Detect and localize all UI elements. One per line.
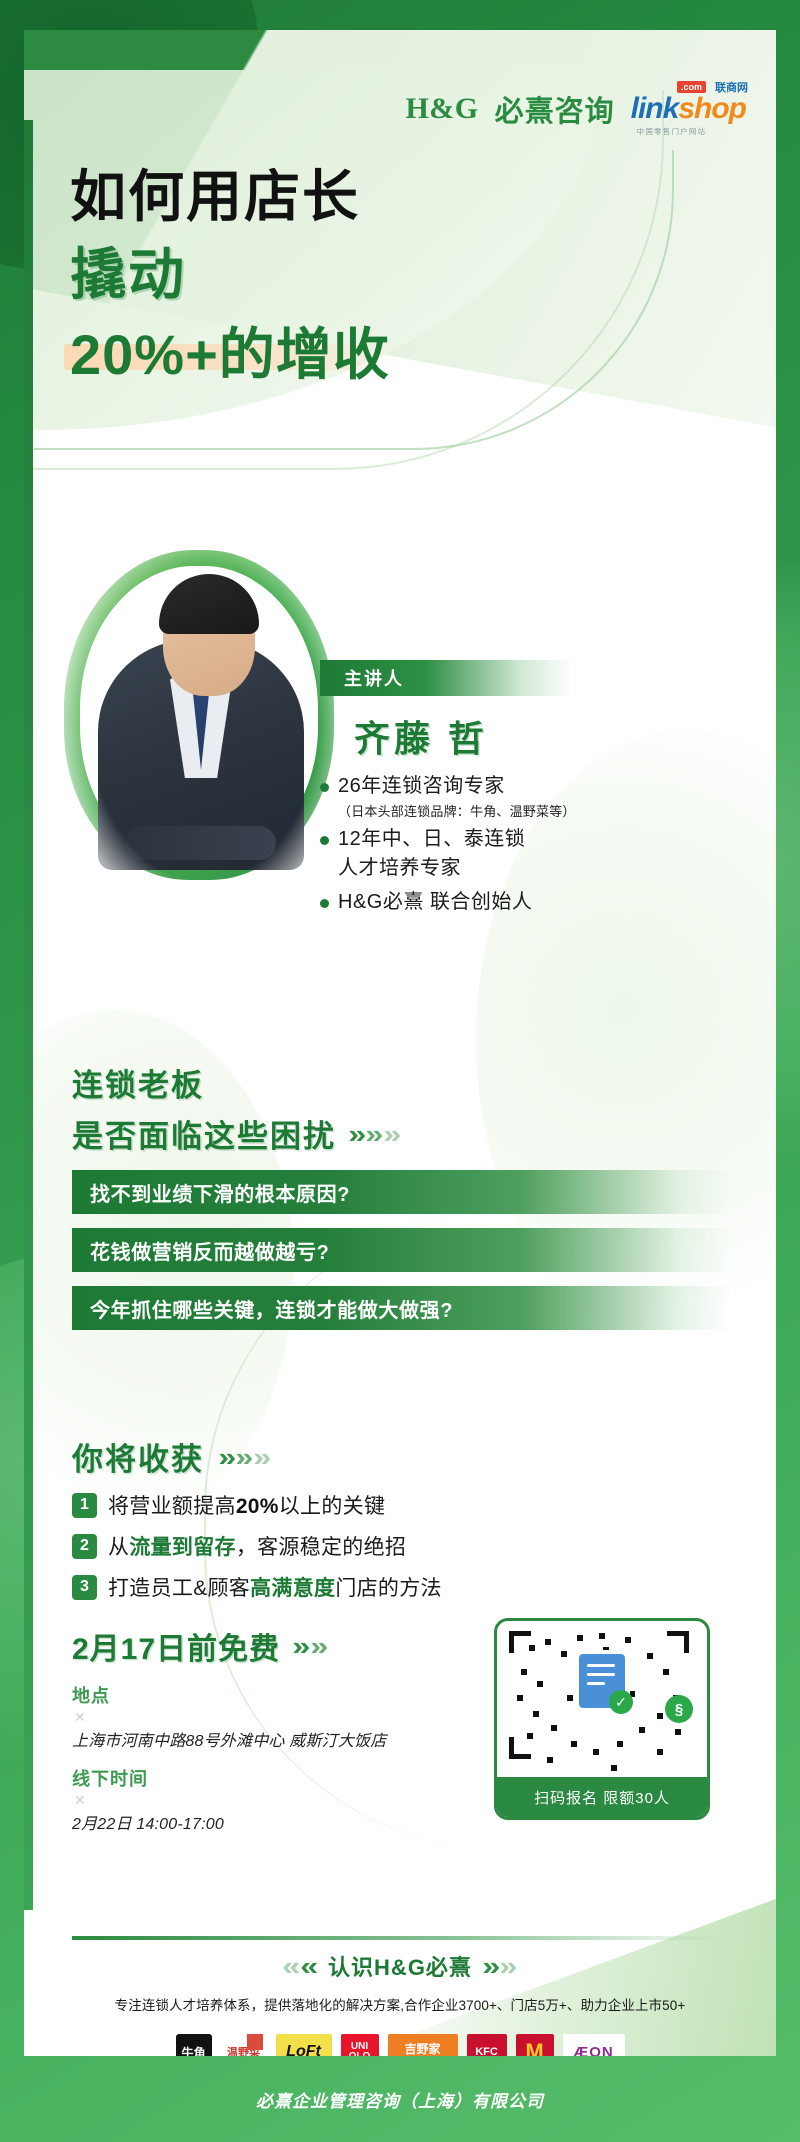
chevron-left-icon: » bbox=[300, 1953, 318, 1979]
client-logo-strip: 牛角 温野菜 LoFt UNIQLO 吉野家YOSHINOYA KFC M ÆO… bbox=[24, 2034, 776, 2056]
pain-bar: 找不到业绩下滑的根本原因? bbox=[72, 1170, 732, 1214]
client-logo-uniqlo: UNIQLO bbox=[341, 2034, 379, 2056]
speaker-badge-label: 主讲人 bbox=[344, 665, 404, 691]
qr-caption-text: 扫码报名 限额30人 bbox=[534, 1787, 670, 1808]
poster-title: 如何用店长 撬动 20%+的增收 bbox=[70, 166, 710, 391]
bullet-dot-icon bbox=[320, 836, 329, 845]
gain-post: 门店的方法 bbox=[335, 1577, 442, 1600]
qr-code-image[interactable]: ✓ § bbox=[497, 1621, 707, 1777]
credential-item: H&G必熹 联合创始人 bbox=[320, 888, 750, 916]
gain-highlight: 20% bbox=[236, 1495, 279, 1518]
pain-bar-text: 找不到业绩下滑的根本原因? bbox=[90, 1178, 350, 1207]
pain-bar-text: 花钱做营销反而越做越亏? bbox=[90, 1236, 329, 1265]
client-logo-kfc: KFC bbox=[467, 2034, 507, 2056]
speaker-credentials: 26年连锁咨询专家 （日本头部连锁品牌：牛角、温野菜等） 12年中、日、泰连锁 … bbox=[320, 772, 750, 917]
time-separator-icon: ✕ bbox=[74, 1792, 472, 1809]
linkshop-com-badge: .com bbox=[677, 81, 706, 93]
chevron-right-icon: » bbox=[366, 1121, 384, 1147]
event-headline: 2月17日前免费 bbox=[72, 1624, 280, 1668]
venue-label: 地点 bbox=[72, 1682, 472, 1708]
chevron-left-icon: » bbox=[282, 1953, 300, 1979]
venue-separator-icon: ✕ bbox=[74, 1709, 472, 1726]
gain-highlight: 高满意度 bbox=[250, 1577, 335, 1600]
left-accent-bar bbox=[24, 120, 33, 1910]
header-logos: H&G 必熹咨询 link shop .com 联商网 中国零售门户网站 bbox=[24, 82, 776, 136]
credential-text: H&G必熹 联合创始人 bbox=[338, 888, 532, 916]
gains-heading-row: 你将收获 » » » bbox=[72, 1434, 732, 1479]
linkshop-subtitle: 中国零售门户网站 bbox=[637, 126, 707, 137]
gain-pre: 将营业额提高 bbox=[108, 1495, 236, 1518]
chevron-right-icon: » bbox=[292, 1633, 310, 1659]
speaker-badge: 主讲人 bbox=[320, 660, 572, 696]
gains-section: 你将收获 » » » 1 将营业额提高20%以上的关键 2 从流量到留存，客源稳… bbox=[72, 1434, 732, 1602]
gain-item: 3 打造员工&顾客高满意度门店的方法 bbox=[72, 1572, 732, 1602]
linkshop-shop-text: shop bbox=[678, 92, 746, 126]
pain-heading-line-2: 是否面临这些困扰 bbox=[72, 1111, 336, 1156]
pain-bar: 今年抓住哪些关键，连锁才能做大做强? bbox=[72, 1286, 732, 1330]
section-divider bbox=[72, 1936, 728, 1940]
chevron-group: » » » bbox=[220, 1444, 269, 1470]
chevron-right-icon: » bbox=[310, 1633, 328, 1659]
about-section: » » 认识H&G必熹 » » 专注连锁人才培养体系，提供落地化的解决方案,合作… bbox=[24, 1950, 776, 2056]
chevron-right-icon: » bbox=[500, 1953, 518, 1979]
chevron-right-icon: » bbox=[253, 1444, 271, 1470]
gain-text: 将营业额提高20%以上的关键 bbox=[108, 1490, 385, 1520]
title-line-2: 撬动 bbox=[70, 241, 710, 308]
qr-center-logo: ✓ bbox=[574, 1650, 630, 1712]
chevron-right-icon: » bbox=[218, 1444, 236, 1470]
pain-points-section: 连锁老板 是否面临这些困扰 » » » 找不到业绩下滑的根本原因? 花钱做营销反… bbox=[72, 1060, 732, 1330]
gains-heading: 你将收获 bbox=[72, 1434, 204, 1479]
photo-vignette bbox=[54, 530, 354, 930]
time-label: 线下时间 bbox=[72, 1765, 472, 1791]
linkshop-cn-text: 联商网 bbox=[715, 79, 748, 95]
gain-post: 以上的关键 bbox=[279, 1495, 386, 1518]
logo-hg-text: H&G bbox=[405, 92, 478, 126]
chevron-right-icon: » bbox=[383, 1121, 401, 1147]
poster-card: H&G 必熹咨询 link shop .com 联商网 中国零售门户网站 如何用… bbox=[24, 30, 776, 2056]
chevron-right-icon: » bbox=[348, 1121, 366, 1147]
footer-company-name: 必熹企业管理咨询（上海）有限公司 bbox=[256, 2087, 544, 2112]
speaker-name: 齐藤 哲 bbox=[354, 710, 750, 762]
bullet-dot-icon bbox=[320, 899, 329, 908]
credential-text: 26年连锁咨询专家 bbox=[338, 772, 505, 800]
gain-highlight: 流量到留存 bbox=[129, 1536, 236, 1559]
gain-item: 1 将营业额提高20%以上的关键 bbox=[72, 1490, 732, 1520]
about-description: 专注连锁人才培养体系，提供落地化的解决方案,合作企业3700+、门店5万+、助力… bbox=[24, 1994, 776, 2014]
pain-bar-text: 今年抓住哪些关键，连锁才能做大做强? bbox=[90, 1294, 453, 1323]
client-logo-mcdonalds: M bbox=[516, 2034, 554, 2056]
gain-text: 打造员工&顾客高满意度门店的方法 bbox=[108, 1572, 442, 1602]
client-logo-onyasai: 温野菜 bbox=[221, 2034, 267, 2056]
gain-post: ，客源稳定的绝招 bbox=[236, 1536, 406, 1559]
about-heading: 认识H&G必熹 bbox=[328, 1950, 472, 1982]
client-logo-yoshinoya: 吉野家YOSHINOYA bbox=[388, 2034, 458, 2056]
event-info-section: 2月17日前免费 » » 地点 ✕ 上海市河南中路88号外滩中心 威斯汀大饭店 … bbox=[72, 1624, 472, 1834]
gain-number-badge: 2 bbox=[72, 1534, 97, 1559]
qr-code-card[interactable]: ✓ § 扫码报名 限额30人 bbox=[494, 1618, 710, 1820]
chevron-right-icon: » bbox=[482, 1953, 500, 1979]
chevron-group: » » » bbox=[350, 1121, 399, 1147]
linkshop-link-text: link bbox=[631, 92, 679, 126]
about-heading-row: » » 认识H&G必熹 » » bbox=[24, 1950, 776, 1982]
logo-linkshop: link shop .com 联商网 中国零售门户网站 bbox=[631, 92, 746, 126]
title-line-3-wrap: 20%+的增收 bbox=[70, 310, 390, 391]
credential-item: 26年连锁咨询专家 bbox=[320, 772, 750, 800]
chevron-group-right: » » bbox=[484, 1953, 516, 1979]
gain-pre: 从 bbox=[108, 1536, 129, 1559]
yoshinoya-line-1: 吉野家 bbox=[404, 2040, 440, 2056]
logo-bixi-text: 必熹咨询 bbox=[495, 88, 615, 130]
client-logo-niku: 牛角 bbox=[176, 2034, 212, 2056]
check-icon: ✓ bbox=[609, 1690, 633, 1714]
gain-pre: 打造员工&顾客 bbox=[108, 1577, 250, 1600]
gain-item: 2 从流量到留存，客源稳定的绝招 bbox=[72, 1531, 732, 1561]
document-icon: ✓ bbox=[579, 1654, 625, 1708]
bullet-dot-icon bbox=[320, 783, 329, 792]
client-logo-loft: LoFt bbox=[276, 2034, 332, 2056]
venue-value: 上海市河南中路88号外滩中心 威斯汀大饭店 bbox=[72, 1727, 472, 1751]
footer-strip: 必熹企业管理咨询（上海）有限公司 bbox=[0, 2056, 800, 2142]
title-line-3: 20%+的增收 bbox=[70, 310, 390, 391]
event-headline-row: 2月17日前免费 » » bbox=[72, 1624, 472, 1668]
pain-heading-row: 是否面临这些困扰 » » » bbox=[72, 1111, 732, 1156]
gain-text: 从流量到留存，客源稳定的绝招 bbox=[108, 1531, 406, 1561]
pain-bar: 花钱做营销反而越做越亏? bbox=[72, 1228, 732, 1272]
gain-number-badge: 3 bbox=[72, 1575, 97, 1600]
pain-heading-line-1: 连锁老板 bbox=[72, 1060, 732, 1105]
time-value: 2月22日 14:00-17:00 bbox=[72, 1810, 472, 1834]
poster-root: H&G 必熹咨询 link shop .com 联商网 中国零售门户网站 如何用… bbox=[0, 0, 800, 2142]
gain-number-badge: 1 bbox=[72, 1493, 97, 1518]
client-logo-aeon: ÆON bbox=[563, 2034, 625, 2056]
title-line-1: 如何用店长 bbox=[70, 166, 710, 229]
wechat-icon: § bbox=[665, 1695, 693, 1723]
qr-caption-bar: 扫码报名 限额30人 bbox=[497, 1777, 707, 1817]
credential-item: 12年中、日、泰连锁 人才培养专家 bbox=[320, 825, 750, 882]
credential-subtext: （日本头部连锁品牌：牛角、温野菜等） bbox=[338, 801, 750, 820]
speaker-photo bbox=[64, 530, 354, 930]
chevron-group-left: » » bbox=[284, 1953, 316, 1979]
credential-text: 12年中、日、泰连锁 人才培养专家 bbox=[338, 825, 525, 882]
speaker-block: 主讲人 齐藤 哲 26年连锁咨询专家 （日本头部连锁品牌：牛角、温野菜等） 12… bbox=[320, 660, 750, 919]
chevron-right-icon: » bbox=[236, 1444, 254, 1470]
chevron-group: » » bbox=[294, 1633, 326, 1659]
